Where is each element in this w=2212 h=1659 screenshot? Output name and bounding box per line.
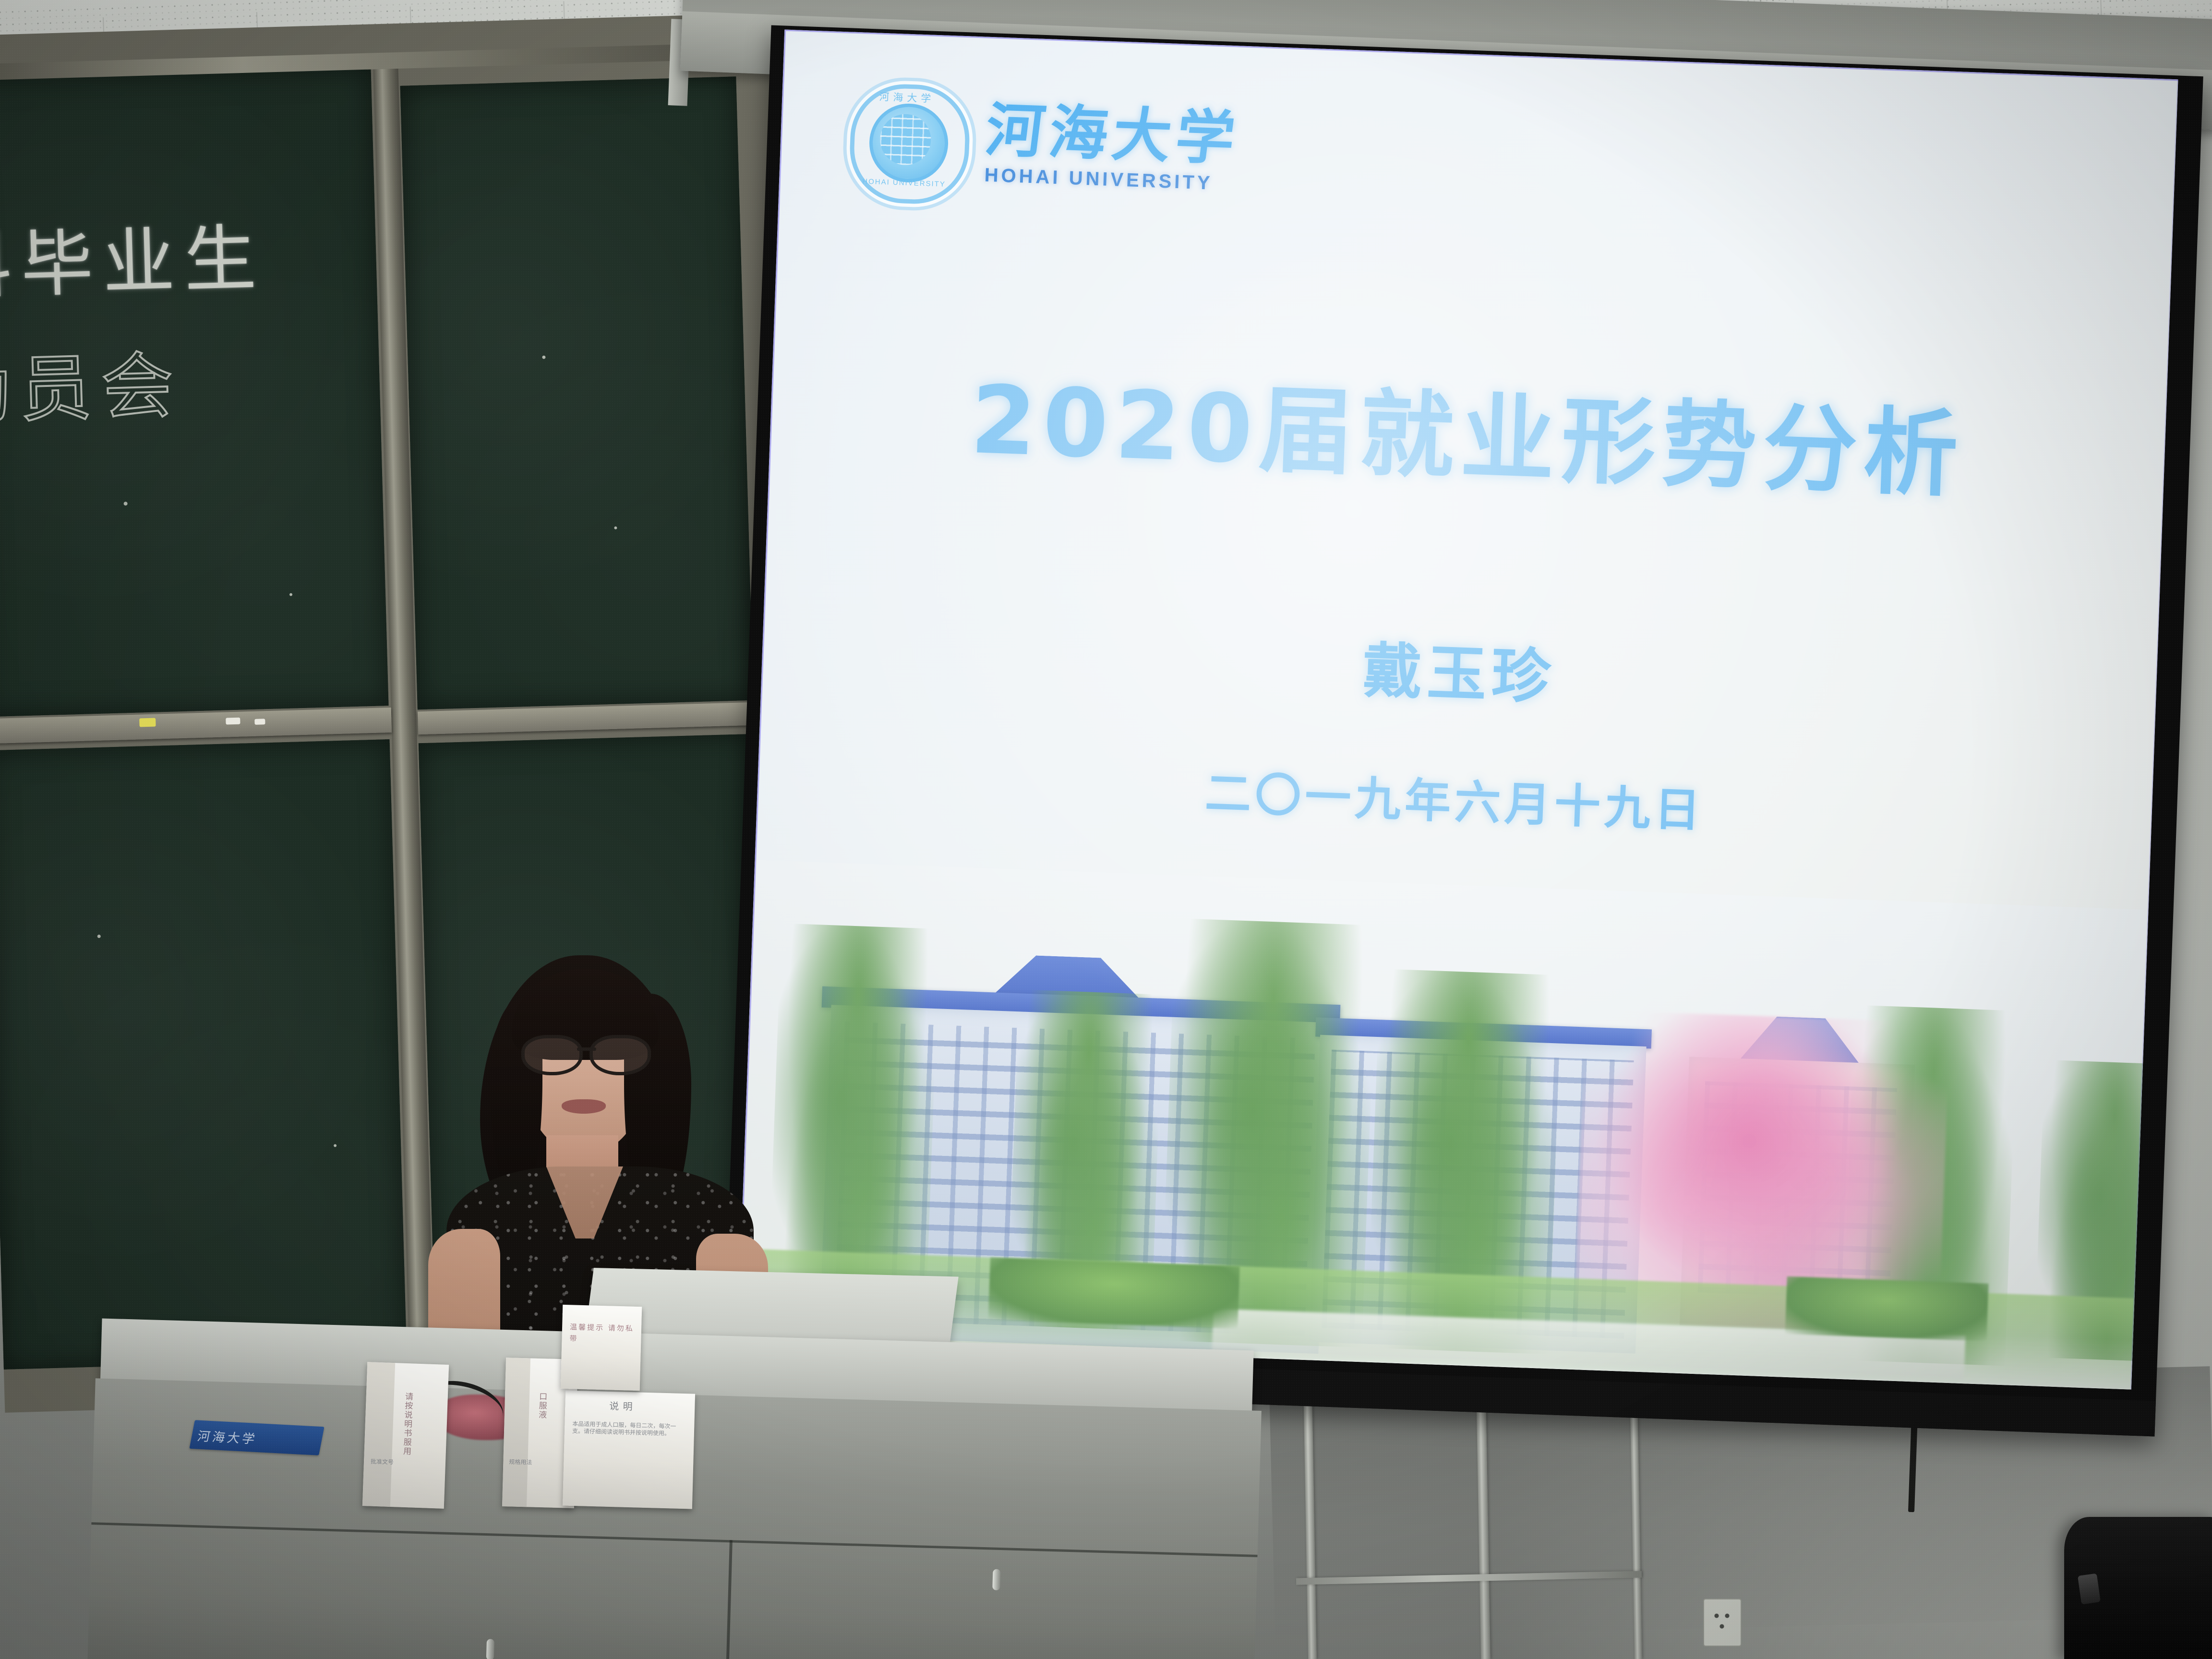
projector-screen: 河海大学 HOHAI UNIVERSITY 河海大学 HOHAI UNIVERS… — [722, 25, 2203, 1437]
list-item[interactable]: 说 明 本品适用于成人口服，每日二次，每次一支。请仔细阅读说明书并按说明使用。 — [563, 1391, 695, 1509]
glasses-lens-left — [521, 1035, 583, 1075]
eyeglasses-icon — [519, 1035, 653, 1070]
list-item[interactable]: 温馨提示 请勿私带 — [561, 1305, 642, 1391]
university-logo: 河海大学 HOHAI UNIVERSITY 河海大学 HOHAI UNIVERS… — [848, 83, 1241, 207]
power-outlet-icon — [1703, 1599, 1742, 1647]
projection-surface: 河海大学 HOHAI UNIVERSITY 河海大学 HOHAI UNIVERS… — [738, 30, 2178, 1390]
logo-wordmark: 河海大学 HOHAI UNIVERSITY — [984, 99, 1240, 195]
classroom-photo-scene: 科毕业生 动员会 河海大学 HOHAI UNIVERSITY — [0, 0, 2212, 1659]
blackboard-panel — [0, 739, 407, 1370]
chalk-piece-white — [226, 718, 240, 725]
chalk-piece-white — [254, 719, 265, 725]
hohai-seal-icon: 河海大学 HOHAI UNIVERSITY — [848, 83, 962, 197]
logo-wordmark-cn: 河海大学 — [982, 99, 1243, 170]
carton-side-face — [502, 1358, 530, 1507]
carton-small-text: 规格用法 — [509, 1458, 532, 1466]
blackboard-chalk-line-1: 科毕业生 — [0, 200, 267, 313]
glasses-bridge — [577, 1047, 596, 1051]
carton-small-text: 批准文号 — [371, 1458, 394, 1466]
carton-small-text: 温馨提示 请勿私带 — [569, 1321, 635, 1346]
carton-body-text: 本品适用于成人口服，每日二次，每次一支。请仔细阅读说明书并按说明使用。 — [572, 1420, 686, 1438]
drawer-handle[interactable] — [486, 1639, 494, 1659]
drawer-seam — [91, 1522, 1257, 1557]
slide-title: 2020届就业形势分析 — [769, 337, 2167, 522]
campus-hedge — [1785, 1276, 1988, 1341]
drawer-handle[interactable] — [992, 1569, 1000, 1590]
carton-label-text: 请按说明书服用 — [401, 1392, 413, 1456]
slide-date: 二〇一九年六月十九日 — [757, 740, 2152, 856]
carton-label-text: 口服液 — [536, 1392, 547, 1420]
desk-blue-label-text: 河海大学 — [196, 1427, 259, 1447]
blackboard-chalk-line-2: 动员会 — [0, 327, 184, 438]
mouth — [562, 1099, 606, 1114]
carton-side-face — [362, 1362, 395, 1507]
glasses-lens-right — [589, 1035, 651, 1075]
list-item[interactable]: 请按说明书服用 批准文号 — [362, 1362, 449, 1509]
chalk-piece-yellow — [139, 718, 156, 727]
carton-title-text: 说 明 — [609, 1400, 633, 1413]
presentation-slide: 河海大学 HOHAI UNIVERSITY 河海大学 HOHAI UNIVERS… — [738, 30, 2178, 1390]
bag-buckle — [2078, 1574, 2101, 1605]
slide-presenter-name: 戴玉珍 — [761, 601, 2158, 737]
blackboard-panel — [400, 76, 754, 709]
drawer-seam — [726, 1540, 733, 1659]
